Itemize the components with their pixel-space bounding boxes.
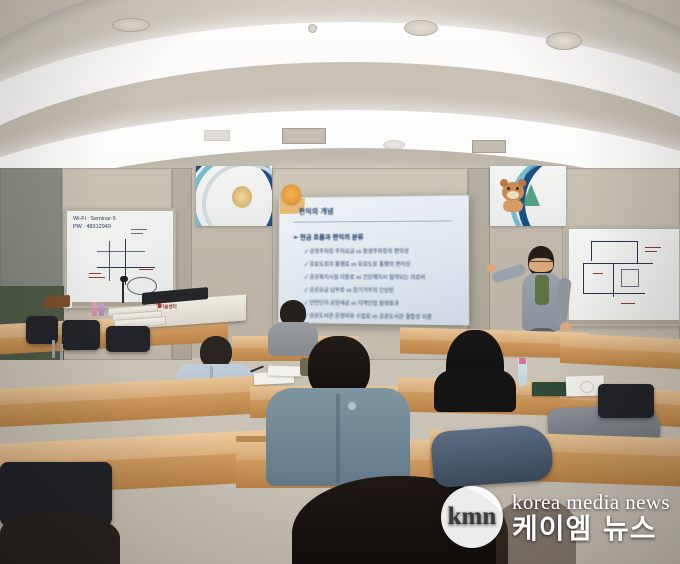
watermark-text-block: korea media news 케이엠 뉴스 xyxy=(512,490,670,545)
shirt-collar-button xyxy=(348,402,356,410)
bear-eye-icon xyxy=(507,187,510,190)
slide-heading-text: 현금 흐름과 편익의 분류 xyxy=(300,234,364,241)
whiteboard-line xyxy=(583,263,653,264)
whiteboard-line xyxy=(613,263,614,297)
slide-title: 편익의 개념 xyxy=(299,207,334,217)
ceiling-downlight-icon xyxy=(546,32,582,50)
slide-bullet: ✓ 공공도서관 운영비와 수업료 vs 공공도서관 결합성 이용 xyxy=(304,311,432,320)
slide-bullet: ✓ 공공복지시설 이용료 vs 건강해지서 절약되는 의료비 xyxy=(304,273,425,281)
whiteboard-line xyxy=(109,241,110,281)
slide-bullet-text: 안전단지 공양세금 vs 지역인접 발생효과 xyxy=(309,301,399,308)
slide-bullet-text: 공공요금 납부료 vs 장기가주의 인상된 xyxy=(309,288,394,295)
denim-jacket xyxy=(430,424,554,488)
ceiling-vent-icon xyxy=(472,140,506,153)
attendee-foreground-left xyxy=(0,512,120,564)
presenter-shirt xyxy=(535,275,549,305)
presenter-hand xyxy=(560,322,571,332)
chair-leg xyxy=(52,340,55,358)
whiteboard-line xyxy=(593,273,603,274)
whiteboard-axis xyxy=(97,267,155,268)
slide-heading: ➢ 현금 흐름과 편익의 분류 xyxy=(293,231,364,241)
ceiling-sensor-icon xyxy=(308,24,317,33)
whiteboard-line xyxy=(645,251,657,252)
bear-body-icon xyxy=(503,200,523,212)
slide-bullet-text: 공공도서관 운영비와 수업료 vs 공공도서관 결합성 이용 xyxy=(309,313,432,320)
whiteboard-line xyxy=(621,303,635,304)
whiteboard-line xyxy=(591,241,637,242)
whiteboard-line xyxy=(583,293,645,294)
attendee-long-hair xyxy=(432,330,518,414)
whiteboard-line xyxy=(89,273,101,274)
attendee-top xyxy=(434,370,516,412)
chair xyxy=(62,320,100,350)
whiteboard-note-line: PW : 48312949 xyxy=(73,224,111,230)
watermark-english: korea media news xyxy=(512,490,670,514)
bear-eye-icon xyxy=(516,187,519,190)
watermark-korean: 케이엠 뉴스 xyxy=(512,514,670,545)
slide-bullet: ✓ 공공요금 납부료 vs 장기가주의 인상된 xyxy=(304,286,394,295)
slide-bullet: ✓ 유료도로의 통행료 vs 유료도로 통행의 편리성 xyxy=(304,260,410,268)
chair xyxy=(106,326,150,352)
attendee-foreground-teal xyxy=(262,336,412,486)
whiteboard-note-line: Wi-Fi : Seminar-5 xyxy=(73,216,116,222)
purple-bottle xyxy=(99,303,104,316)
slide-bullet-text: 공영주차장 주차요금 vs 동생주차장의 편의성 xyxy=(309,249,408,255)
watermark: kmn korea media news 케이엠 뉴스 xyxy=(441,486,670,548)
kmn-logo: kmn xyxy=(441,486,503,548)
banner-emblem-icon xyxy=(232,186,252,208)
whiteboard-line xyxy=(131,233,143,234)
shirt-seam xyxy=(336,394,340,482)
chair xyxy=(598,384,654,418)
ceiling-speaker-icon xyxy=(404,20,438,36)
whiteboard-line xyxy=(645,247,661,248)
slide-title-rule xyxy=(293,220,452,222)
paper-mark xyxy=(580,381,594,393)
bear-ear-icon xyxy=(518,179,526,187)
pink-bottle xyxy=(92,302,97,316)
whiteboard-line xyxy=(637,241,638,263)
slide-bullet-text: 공공복지시설 이용료 vs 건강해지서 절약되는 의료비 xyxy=(309,275,425,281)
whiteboard-line xyxy=(97,251,145,252)
glasses-icon xyxy=(529,261,552,266)
bear-ear-icon xyxy=(500,179,508,187)
chair-leg xyxy=(60,344,63,360)
ceiling-downlight-icon xyxy=(383,140,405,150)
ceiling-vent-icon xyxy=(204,130,230,141)
right-wall-banner xyxy=(490,166,566,226)
ceiling-vent-icon xyxy=(282,128,326,144)
lectern-sign-text: 기술센터 xyxy=(160,304,177,310)
bottle-cap xyxy=(519,358,526,364)
whiteboard-line xyxy=(131,229,147,230)
whiteboard-line xyxy=(591,241,592,261)
left-wall-banner xyxy=(196,166,272,226)
ceiling-speaker-icon xyxy=(112,18,150,32)
whiteboard-line xyxy=(139,269,153,270)
gooseneck-mic-icon xyxy=(112,276,134,302)
wooden-tray xyxy=(44,295,70,309)
water-bottle xyxy=(518,358,527,386)
whiteboard-line xyxy=(89,277,105,278)
lecture-hall-photo: Wi-Fi : Seminar-5 PW : 48312949 편익의 개념 xyxy=(0,0,680,564)
bear-muzzle-icon xyxy=(507,191,519,199)
whiteboard-box xyxy=(621,269,639,287)
slide-bullet-text: 유료도로의 통행료 vs 유료도로 통행의 편리성 xyxy=(309,262,410,268)
slide-bullet: ✓ 공영주차장 주차요금 vs 동생주차장의 편의성 xyxy=(304,247,408,255)
